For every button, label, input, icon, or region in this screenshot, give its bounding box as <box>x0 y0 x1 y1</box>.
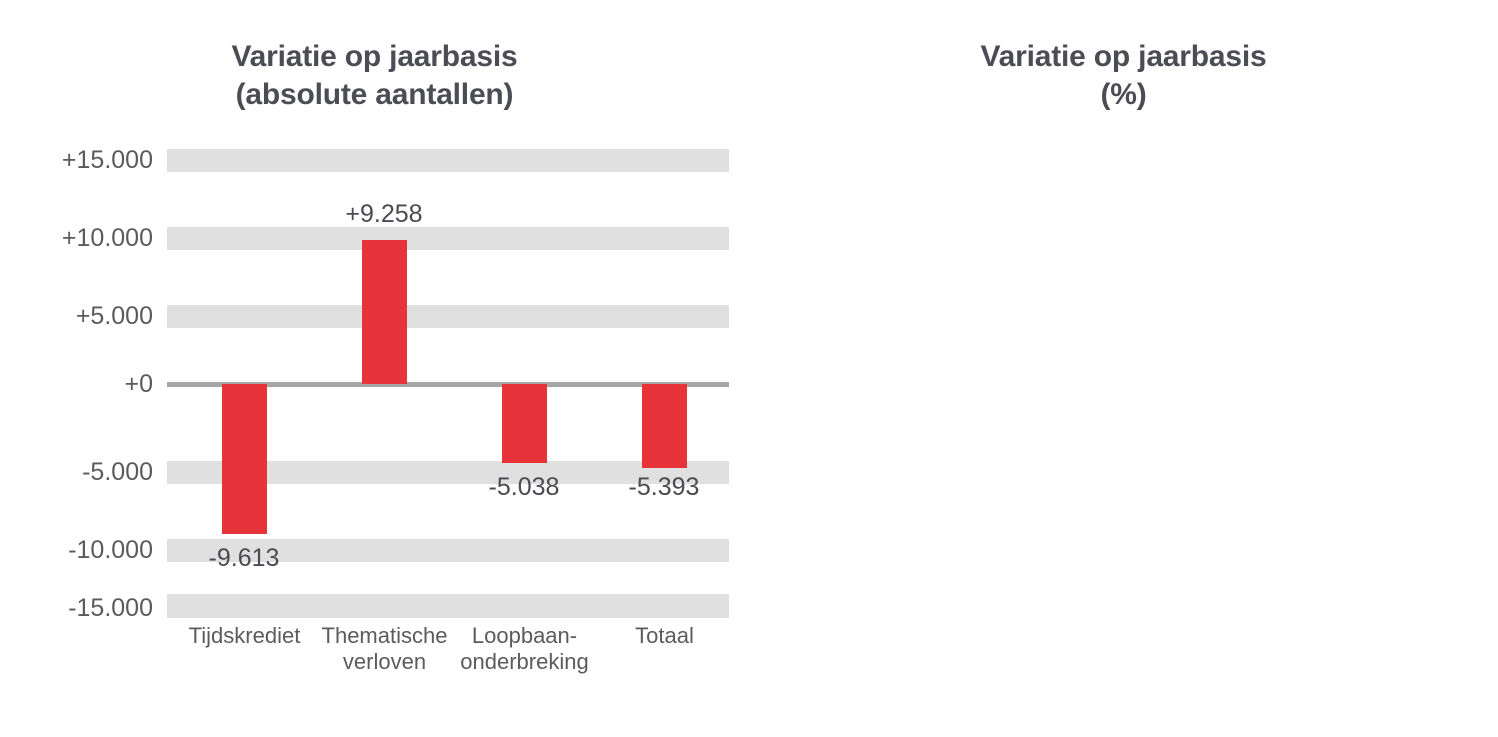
bar-totaal <box>642 384 687 468</box>
ytick-label-neg10000: -10.000 <box>68 538 153 563</box>
chart-panel-percent: Variatie op jaarbasis (%) +15,0% +10,0% … <box>749 0 1498 737</box>
gridband-neg15000 <box>167 594 729 618</box>
ytick-label-5000: +5.000 <box>76 304 153 329</box>
gridband-15000 <box>167 149 729 172</box>
category-label-loopbaanonderbreking: Loopbaan- onderbreking <box>448 623 601 675</box>
value-label-tijdskrediet: -9.613 <box>184 546 304 571</box>
category-label-totaal: Totaal <box>588 623 741 649</box>
ytick-label-15000: +15.000 <box>62 148 153 173</box>
value-label-thematische-verloven: +9.258 <box>324 202 444 227</box>
ytick-label-neg15000: -15.000 <box>68 596 153 621</box>
chart-title-percent: Variatie op jaarbasis (%) <box>749 38 1498 114</box>
bar-loopbaanonderbreking <box>502 384 547 463</box>
chart-board: Variatie op jaarbasis (absolute aantalle… <box>0 0 1498 737</box>
gridband-5000 <box>167 305 729 328</box>
bar-tijdskrediet <box>222 384 267 534</box>
bar-thematische-verloven <box>362 240 407 384</box>
category-label-tijdskrediet: Tijdskrediet <box>168 623 321 649</box>
gridband-10000 <box>167 227 729 250</box>
category-label-thematische-verloven: Thematische verloven <box>308 623 461 675</box>
ytick-label-neg5000: -5.000 <box>82 460 153 485</box>
ytick-label-0: +0 <box>124 372 153 397</box>
value-label-totaal: -5.393 <box>604 475 724 500</box>
ytick-label-10000: +10.000 <box>62 226 153 251</box>
plot-area-absolute: +15.000 +10.000 +5.000 +0 -5.000 -10.000… <box>167 140 729 618</box>
value-label-loopbaanonderbreking: -5.038 <box>464 475 584 500</box>
chart-title-absolute: Variatie op jaarbasis (absolute aantalle… <box>0 38 749 114</box>
chart-panel-absolute: Variatie op jaarbasis (absolute aantalle… <box>0 0 749 737</box>
